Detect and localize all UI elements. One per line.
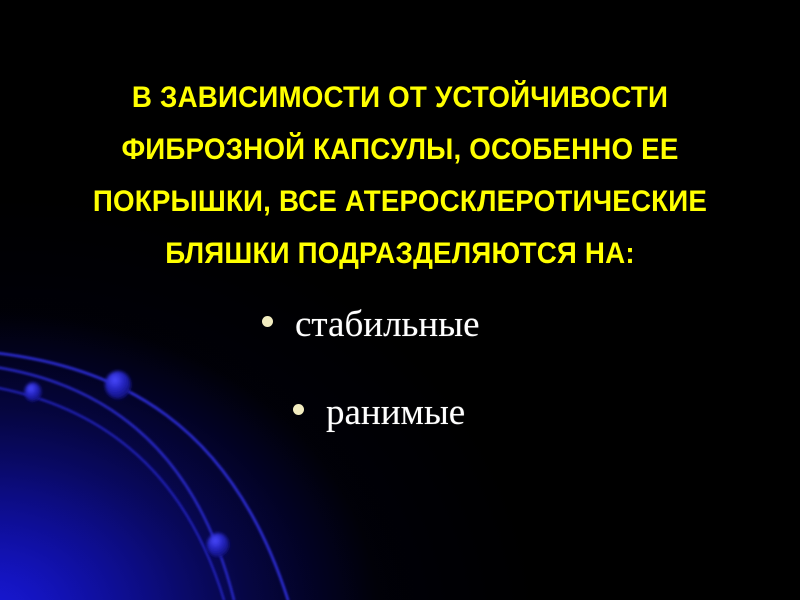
bullet-item-label: ранимые [326,394,465,431]
bullet-dot-icon [293,404,304,415]
presentation-slide: В ЗАВИСИМОСТИ ОТ УСТОЙЧИВОСТИ ФИБРОЗНОЙ … [0,0,800,600]
title-line-2: ФИБРОЗНОЙ КАПСУЛЫ, ОСОБЕННО ЕЕ [24,124,776,176]
bullet-item-label: стабильные [295,306,480,343]
slide-bullet-list: стабильные ранимые [0,306,800,482]
title-line-4: БЛЯШКИ ПОДРАЗДЕЛЯЮТСЯ НА: [24,228,776,280]
title-line-1: В ЗАВИСИМОСТИ ОТ УСТОЙЧИВОСТИ [24,72,776,124]
bullet-dot-icon [262,316,273,327]
list-item: стабильные [0,306,800,394]
node-lower [207,533,229,557]
list-item: ранимые [0,394,800,482]
title-line-3: ПОКРЫШКИ, ВСЕ АТЕРОСКЛЕРОТИЧЕСКИЕ [24,176,776,228]
slide-title: В ЗАВИСИМОСТИ ОТ УСТОЙЧИВОСТИ ФИБРОЗНОЙ … [0,72,800,280]
